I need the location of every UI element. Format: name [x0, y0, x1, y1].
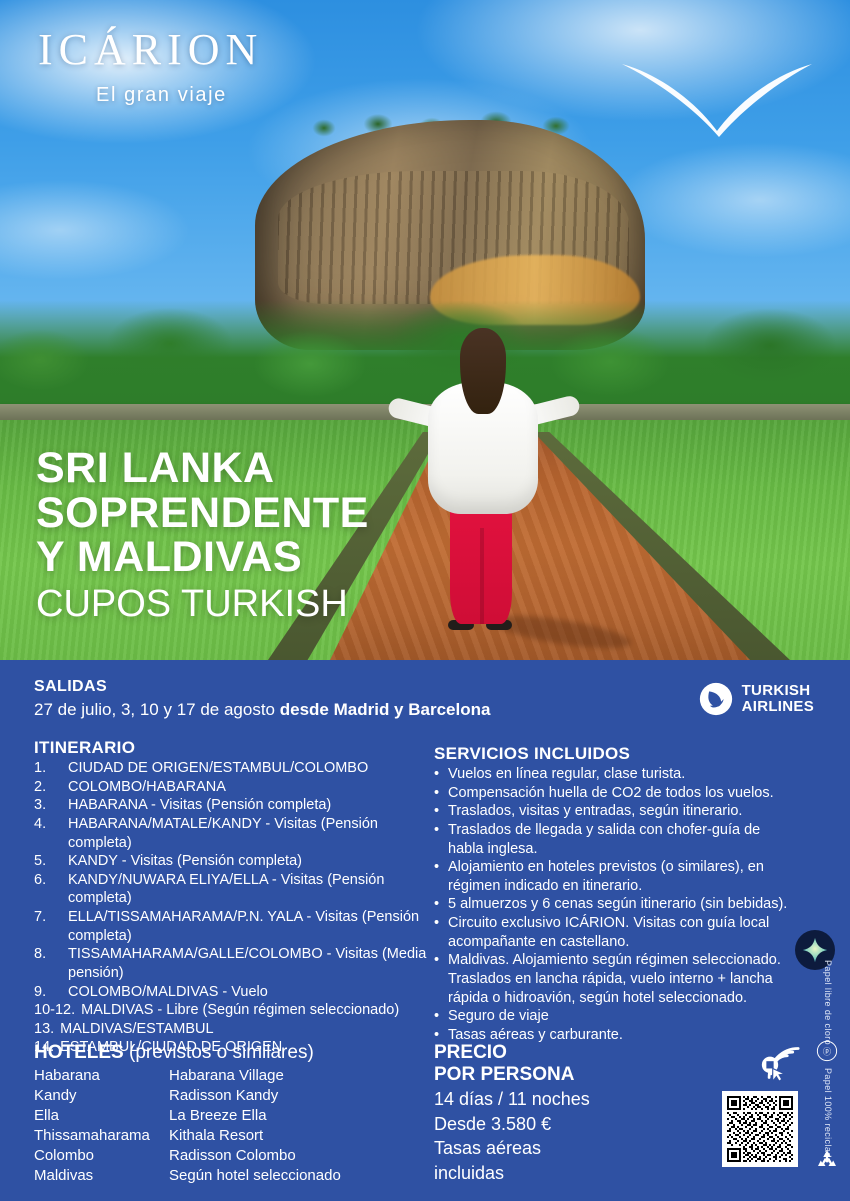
hotel-name: Kithala Resort: [169, 1126, 263, 1146]
hero-subtitle: CUPOS TURKISH: [36, 584, 369, 626]
itinerary-item: 13.MALDIVAS/ESTAMBUL: [34, 1020, 434, 1039]
services-heading: SERVICIOS INCLUIDOS: [434, 744, 794, 764]
hero-photo-sigiriya: ICÁRION El gran viaje SRI LANKA SOPRENDE…: [0, 0, 850, 660]
hotel-name: Radisson Kandy: [169, 1086, 278, 1106]
service-item: •Alojamiento en hoteles previstos (o sim…: [434, 858, 794, 895]
hero-titles: SRI LANKA SOPRENDENTE Y MALDIVAS CUPOS T…: [36, 446, 369, 626]
hotel-city: Habarana: [34, 1066, 169, 1086]
hotels-block: HOTELES (previstos o similares) Habarana…: [34, 1042, 434, 1186]
hotel-name: Según hotel seleccionado: [169, 1166, 341, 1186]
service-item-text: Vuelos en línea regular, clase turista.: [448, 765, 794, 784]
itinerary-item: 7.ELLA/TISSAMAHARAMA/P.N. YALA - Visitas…: [34, 908, 434, 945]
hotel-name: Radisson Colombo: [169, 1146, 296, 1166]
itinerary-item: 5.KANDY - Visitas (Pensión completa): [34, 852, 434, 871]
service-item: •Circuito exclusivo ICÁRION. Visitas con…: [434, 914, 794, 951]
itinerary-item: 4.HABARANA/MATALE/KANDY - Visitas (Pensi…: [34, 815, 434, 852]
tap-qr-icon[interactable]: [758, 1043, 802, 1083]
airline-name-line2: AIRLINES: [742, 699, 814, 715]
brand-tagline: El gran viaje: [96, 84, 263, 107]
itinerary-item-text: ELLA/TISSAMAHARAMA/P.N. YALA - Visitas (…: [68, 908, 434, 945]
service-item: •5 almuerzos y 6 cenas según itinerario …: [434, 895, 794, 914]
hotel-row: ColomboRadisson Colombo: [34, 1146, 434, 1166]
service-item-text: Seguro de viaje: [448, 1007, 794, 1026]
brand-name: ICÁRION: [38, 28, 263, 72]
svg-text:ⓟ: ⓟ: [823, 1047, 831, 1056]
bullet-icon: •: [434, 951, 448, 1007]
itinerary-item-number: 8.: [34, 945, 68, 982]
bullet-icon: •: [434, 858, 448, 895]
service-item: •Seguro de viaje: [434, 1007, 794, 1026]
hero-title-line3: Y MALDIVAS: [36, 535, 369, 580]
walking-woman: [404, 328, 564, 648]
price-details: 14 días / 11 noches Desde 3.580 € Tasas …: [434, 1087, 590, 1185]
hero-title-line2: SOPRENDENTE: [36, 491, 369, 536]
hotel-row: KandyRadisson Kandy: [34, 1086, 434, 1106]
bullet-icon: •: [434, 1007, 448, 1026]
itinerary-item-text: COLOMBO/MALDIVAS - Vuelo: [68, 983, 434, 1002]
service-item-text: 5 almuerzos y 6 cenas según itinerario (…: [448, 895, 794, 914]
bullet-icon: •: [434, 895, 448, 914]
departures-detail: 27 de julio, 3, 10 y 17 de agosto desde …: [34, 700, 490, 720]
itinerary-item-text: HABARANA/MATALE/KANDY - Visitas (Pensión…: [68, 815, 434, 852]
service-item-text: Compensación huella de CO2 de todos los …: [448, 784, 794, 803]
service-item-text: Alojamiento en hoteles previstos (o simi…: [448, 858, 794, 895]
price-block: PRECIO POR PERSONA 14 días / 11 noches D…: [434, 1042, 590, 1185]
price-taxes-line1: Tasas aéreas: [434, 1136, 590, 1160]
services-list: •Vuelos en línea regular, clase turista.…: [434, 765, 794, 1044]
price-heading-line1: PRECIO: [434, 1042, 590, 1064]
service-item-text: Circuito exclusivo ICÁRION. Visitas con …: [448, 914, 794, 951]
turkish-airlines-logo: TURKISH AIRLINES: [699, 682, 814, 716]
price-taxes-line2: incluidas: [434, 1161, 590, 1185]
price-duration: 14 días / 11 noches: [434, 1087, 590, 1111]
itinerary-item-number: 13.: [34, 1020, 60, 1039]
itinerary-item-number: 4.: [34, 815, 68, 852]
itinerary-item-text: HABARANA - Visitas (Pensión completa): [68, 796, 434, 815]
hotel-name: Habarana Village: [169, 1066, 284, 1086]
bullet-icon: •: [434, 802, 448, 821]
hotel-city: Colombo: [34, 1146, 169, 1166]
qr-code-icon[interactable]: [722, 1091, 798, 1167]
woman-hair: [460, 328, 506, 414]
hotel-row: ThissamaharamaKithala Resort: [34, 1126, 434, 1146]
bullet-icon: •: [434, 784, 448, 803]
chlorine-free-label: Papel libre de cloro: [823, 960, 833, 1045]
itinerary-column: ITINERARIO 1.CIUDAD DE ORIGEN/ESTAMBUL/C…: [34, 738, 434, 1057]
brand-logo: ICÁRION El gran viaje: [38, 28, 263, 107]
hotels-heading: HOTELES (previstos o similares): [34, 1042, 434, 1064]
itinerary-item-text: TISSAMAHARAMA/GALLE/COLOMBO - Visitas (M…: [68, 945, 434, 982]
bullet-icon: •: [434, 914, 448, 951]
itinerary-item-number: 5.: [34, 852, 68, 871]
service-item: •Maldivas. Alojamiento según régimen sel…: [434, 951, 794, 1007]
itinerary-item: 6.KANDY/NUWARA ELIYA/ELLA - Visitas (Pen…: [34, 871, 434, 908]
qr-code-matrix: [727, 1096, 793, 1162]
itinerary-heading: ITINERARIO: [34, 738, 434, 758]
service-item: •Traslados de llegada y salida con chofe…: [434, 821, 794, 858]
hero-title-line1: SRI LANKA: [36, 446, 369, 491]
itinerary-item: 1.CIUDAD DE ORIGEN/ESTAMBUL/COLOMBO: [34, 759, 434, 778]
itinerary-item-number: 7.: [34, 908, 68, 945]
service-item: •Vuelos en línea regular, clase turista.: [434, 765, 794, 784]
pefc-certification-icon: ⓟ: [816, 1040, 838, 1062]
price-heading: PRECIO POR PERSONA: [434, 1042, 590, 1085]
service-item-text: Traslados de llegada y salida con chofer…: [448, 821, 794, 858]
itinerary-item-number: 10-12.: [34, 1001, 81, 1020]
airline-name-line1: TURKISH: [742, 683, 814, 699]
hotel-row: MaldivasSegún hotel seleccionado: [34, 1166, 434, 1186]
itinerary-list: 1.CIUDAD DE ORIGEN/ESTAMBUL/COLOMBO2.COL…: [34, 759, 434, 1057]
departure-dates: 27 de julio, 3, 10 y 17 de agosto: [34, 700, 280, 719]
hotel-row: EllaLa Breeze Ella: [34, 1106, 434, 1126]
airline-name: TURKISH AIRLINES: [742, 683, 814, 714]
itinerary-item-number: 1.: [34, 759, 68, 778]
hotel-city: Thissamaharama: [34, 1126, 169, 1146]
service-item: •Traslados, visitas y entradas, según it…: [434, 802, 794, 821]
departures-heading: SALIDAS: [34, 678, 490, 696]
itinerary-item-text: CIUDAD DE ORIGEN/ESTAMBUL/COLOMBO: [68, 759, 434, 778]
hotels-heading-thin: (previstos o similares): [124, 1042, 314, 1063]
recycle-symbol-icon: [815, 1148, 839, 1172]
itinerary-item: 9.COLOMBO/MALDIVAS - Vuelo: [34, 983, 434, 1002]
bullet-icon: •: [434, 765, 448, 784]
price-heading-line2: POR PERSONA: [434, 1064, 590, 1086]
brochure-page: ICÁRION El gran viaje SRI LANKA SOPRENDE…: [0, 0, 850, 1201]
hotels-table: HabaranaHabarana VillageKandyRadisson Ka…: [34, 1066, 434, 1186]
itinerary-item: 3.HABARANA - Visitas (Pensión completa): [34, 796, 434, 815]
itinerary-item: 8.TISSAMAHARAMA/GALLE/COLOMBO - Visitas …: [34, 945, 434, 982]
service-item-text: Maldivas. Alojamiento según régimen sele…: [448, 951, 794, 1007]
departure-origins: desde Madrid y Barcelona: [280, 700, 491, 719]
service-item: •Compensación huella de CO2 de todos los…: [434, 784, 794, 803]
itinerary-item-text: MALDIVAS - Libre (Según régimen seleccio…: [81, 1001, 434, 1020]
price-amount: Desde 3.580 €: [434, 1112, 590, 1136]
bullet-icon: •: [434, 821, 448, 858]
service-item-text: Traslados, visitas y entradas, según iti…: [448, 802, 794, 821]
services-column: SERVICIOS INCLUIDOS •Vuelos en línea reg…: [434, 744, 794, 1044]
itinerary-item-number: 6.: [34, 871, 68, 908]
departures-block: SALIDAS 27 de julio, 3, 10 y 17 de agost…: [34, 678, 490, 720]
itinerary-item-text: MALDIVAS/ESTAMBUL: [60, 1020, 434, 1039]
itinerary-item-number: 2.: [34, 778, 68, 797]
hotels-heading-bold: HOTELES: [34, 1042, 124, 1063]
bird-wing-icon: [618, 58, 818, 138]
itinerary-item-number: 3.: [34, 796, 68, 815]
itinerary-item: 2.COLOMBO/HABARANA: [34, 778, 434, 797]
itinerary-item-text: KANDY - Visitas (Pensión completa): [68, 852, 434, 871]
itinerary-item-text: KANDY/NUWARA ELIYA/ELLA - Visitas (Pensi…: [68, 871, 434, 908]
hotel-city: Maldivas: [34, 1166, 169, 1186]
turkish-airlines-bird-icon: [699, 682, 733, 716]
itinerary-item: 10-12.MALDIVAS - Libre (Según régimen se…: [34, 1001, 434, 1020]
hotel-city: Ella: [34, 1106, 169, 1126]
itinerary-item-text: COLOMBO/HABARANA: [68, 778, 434, 797]
hotel-row: HabaranaHabarana Village: [34, 1066, 434, 1086]
itinerary-item-number: 9.: [34, 983, 68, 1002]
hotel-name: La Breeze Ella: [169, 1106, 267, 1126]
hotel-city: Kandy: [34, 1086, 169, 1106]
